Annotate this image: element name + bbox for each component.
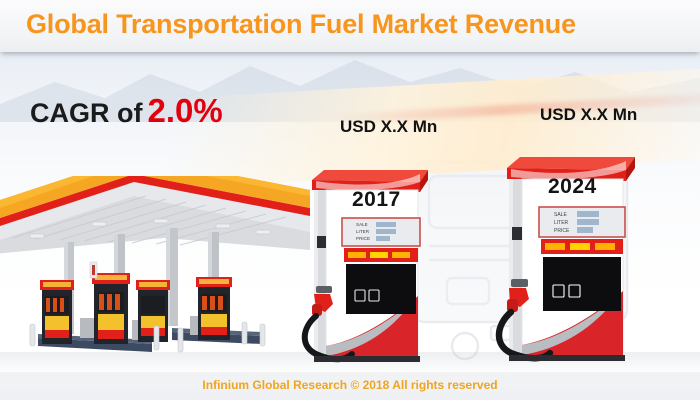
svg-text:LITER: LITER: [554, 220, 569, 226]
svg-text:PRICE: PRICE: [554, 228, 570, 234]
pump-2024-value-label: USD X.X Mn: [540, 105, 637, 125]
cagr-value: 2.0%: [147, 92, 222, 129]
pump-2017-value-label: USD X.X Mn: [340, 117, 437, 137]
header-bar: Global Transportation Fuel Market Revenu…: [0, 0, 700, 52]
infographic-canvas: USD X.X Mn SALE LITER PRICE: [0, 0, 700, 400]
cagr-callout: CAGR of2.0%: [30, 92, 223, 130]
copyright-text: Infinium Global Research © 2018 All righ…: [0, 378, 700, 392]
pump-2024-year: 2024: [548, 175, 597, 199]
svg-text:SALE: SALE: [356, 222, 368, 227]
gas-station-illustration: [0, 176, 310, 371]
cagr-label: CAGR of: [30, 98, 142, 128]
footer-bar: Infinium Global Research © 2018 All righ…: [0, 372, 700, 400]
page-title: Global Transportation Fuel Market Revenu…: [26, 9, 576, 40]
pump-2017-year: 2017: [352, 188, 401, 212]
svg-text:PRICE: PRICE: [356, 236, 370, 241]
svg-text:SALE: SALE: [554, 212, 567, 218]
svg-text:LITER: LITER: [356, 229, 370, 234]
